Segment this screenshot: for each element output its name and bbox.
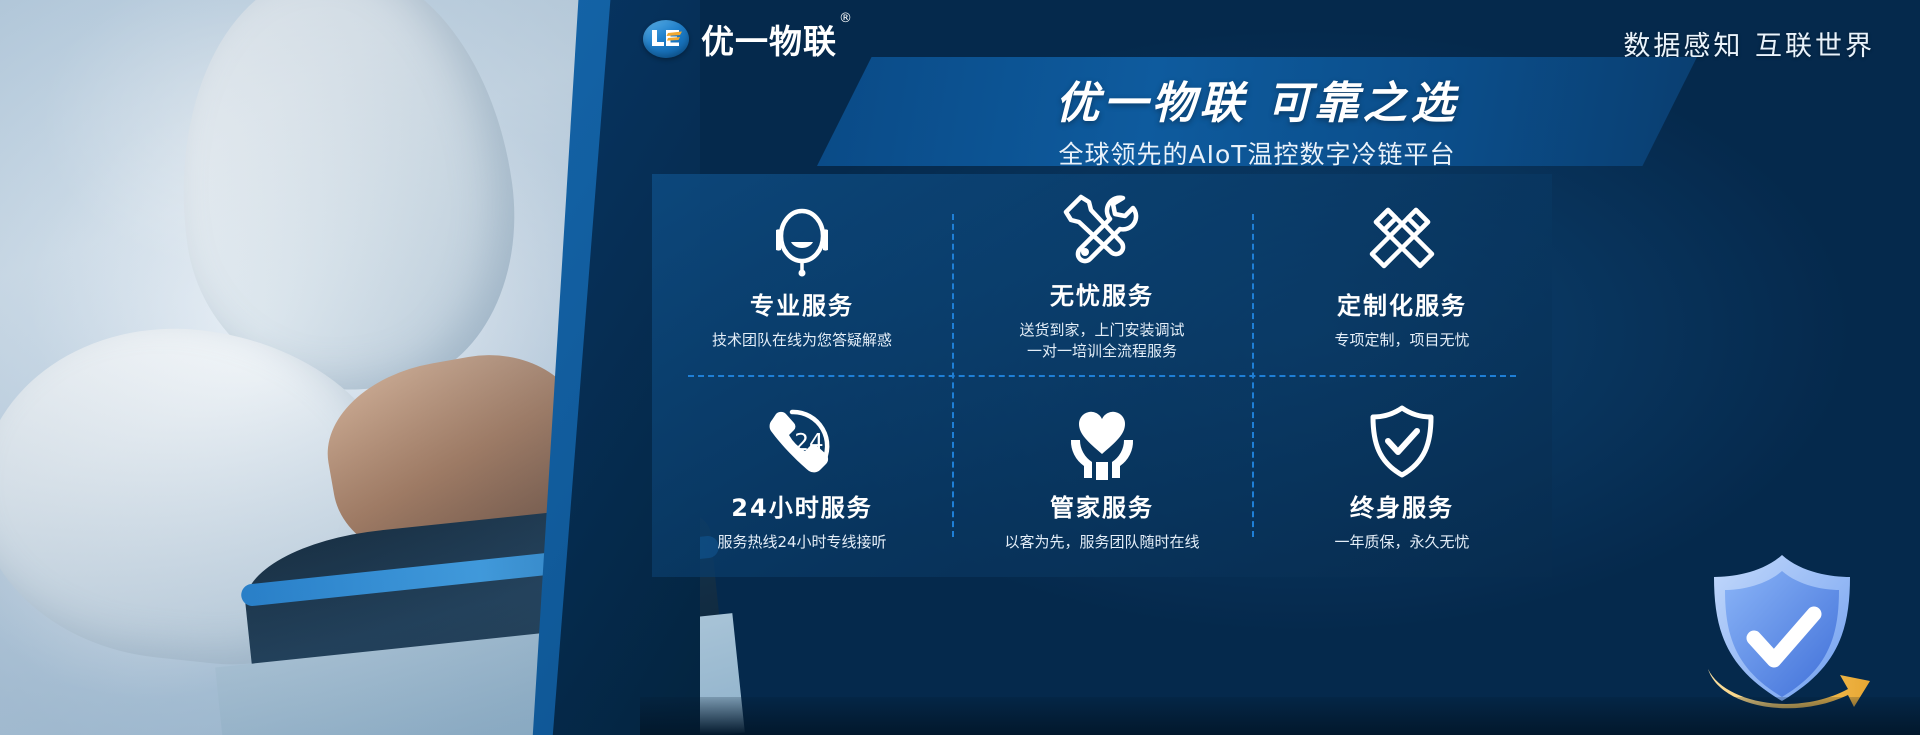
headline-band-content: 优一物联 可靠之选 全球领先的AIoT温控数字冷链平台 <box>817 57 1697 166</box>
service-card-desc-line1: 技术团队在线为您答疑解惑 <box>712 330 892 351</box>
service-grid: 专业服务 技术团队在线为您答疑解惑 无忧服务 送货到家，上门安装调试 <box>652 174 1552 577</box>
brand-logo[interactable]: 优一物联 ® <box>643 15 837 63</box>
service-card-24h[interactable]: 24 24小时服务 服务热线24小时专线接听 <box>652 376 952 578</box>
service-card-desc-line2: 一对一培训全流程服务 <box>1027 341 1177 362</box>
service-card-desc-line1: 一年质保，永久无忧 <box>1334 532 1469 553</box>
service-card-butler[interactable]: 管家服务 以客为先，服务团队随时在线 <box>952 376 1252 578</box>
service-card-title: 定制化服务 <box>1337 286 1467 321</box>
svg-text:24: 24 <box>794 430 823 456</box>
shield-check-icon <box>1366 400 1438 480</box>
headset-icon <box>764 198 840 278</box>
page-subtitle: 全球领先的AIoT温控数字冷链平台 <box>817 135 1697 171</box>
service-card-professional[interactable]: 专业服务 技术团队在线为您答疑解惑 <box>652 174 952 376</box>
le-monogram-icon <box>643 20 689 58</box>
crossed-pencils-icon <box>1364 198 1440 278</box>
service-card-title: 终身服务 <box>1350 488 1454 523</box>
banner-stage: 优一物联 ® 数据感知 互联世界 优一物联 可靠之选 全球领先的AIoT温控数字… <box>0 0 1920 735</box>
bottom-strip <box>640 697 1920 735</box>
service-card-title: 无忧服务 <box>1050 276 1154 311</box>
service-card-title: 专业服务 <box>750 286 854 321</box>
brand-name-text: 优一物联 <box>701 22 837 61</box>
service-card-desc-line1: 专项定制，项目无忧 <box>1334 330 1469 351</box>
brand-name: 优一物联 ® <box>701 15 837 63</box>
service-card-title: 24小时服务 <box>731 488 872 523</box>
wrench-screwdriver-icon <box>1063 188 1141 268</box>
page-title: 优一物联 可靠之选 <box>817 67 1697 131</box>
phone-24h-icon: 24 <box>762 400 842 480</box>
service-card-desc-line1: 送货到家，上门安装调试 <box>1019 320 1184 341</box>
registered-mark: ® <box>839 11 853 26</box>
service-card-title: 管家服务 <box>1050 488 1154 523</box>
service-card-custom[interactable]: 定制化服务 专项定制，项目无忧 <box>1252 174 1552 376</box>
grid-divider-horizontal <box>688 375 1516 377</box>
service-card-desc-line1: 服务热线24小时专线接听 <box>717 532 886 553</box>
service-card-desc-line1: 以客为先，服务团队随时在线 <box>1004 532 1199 553</box>
heart-in-hands-icon <box>1063 400 1141 480</box>
service-card-lifetime[interactable]: 终身服务 一年质保，永久无忧 <box>1252 376 1552 578</box>
content-panel: 优一物联 ® 数据感知 互联世界 优一物联 可靠之选 全球领先的AIoT温控数字… <box>640 0 1920 735</box>
service-card-worryfree[interactable]: 无忧服务 送货到家，上门安装调试 一对一培训全流程服务 <box>952 174 1252 376</box>
